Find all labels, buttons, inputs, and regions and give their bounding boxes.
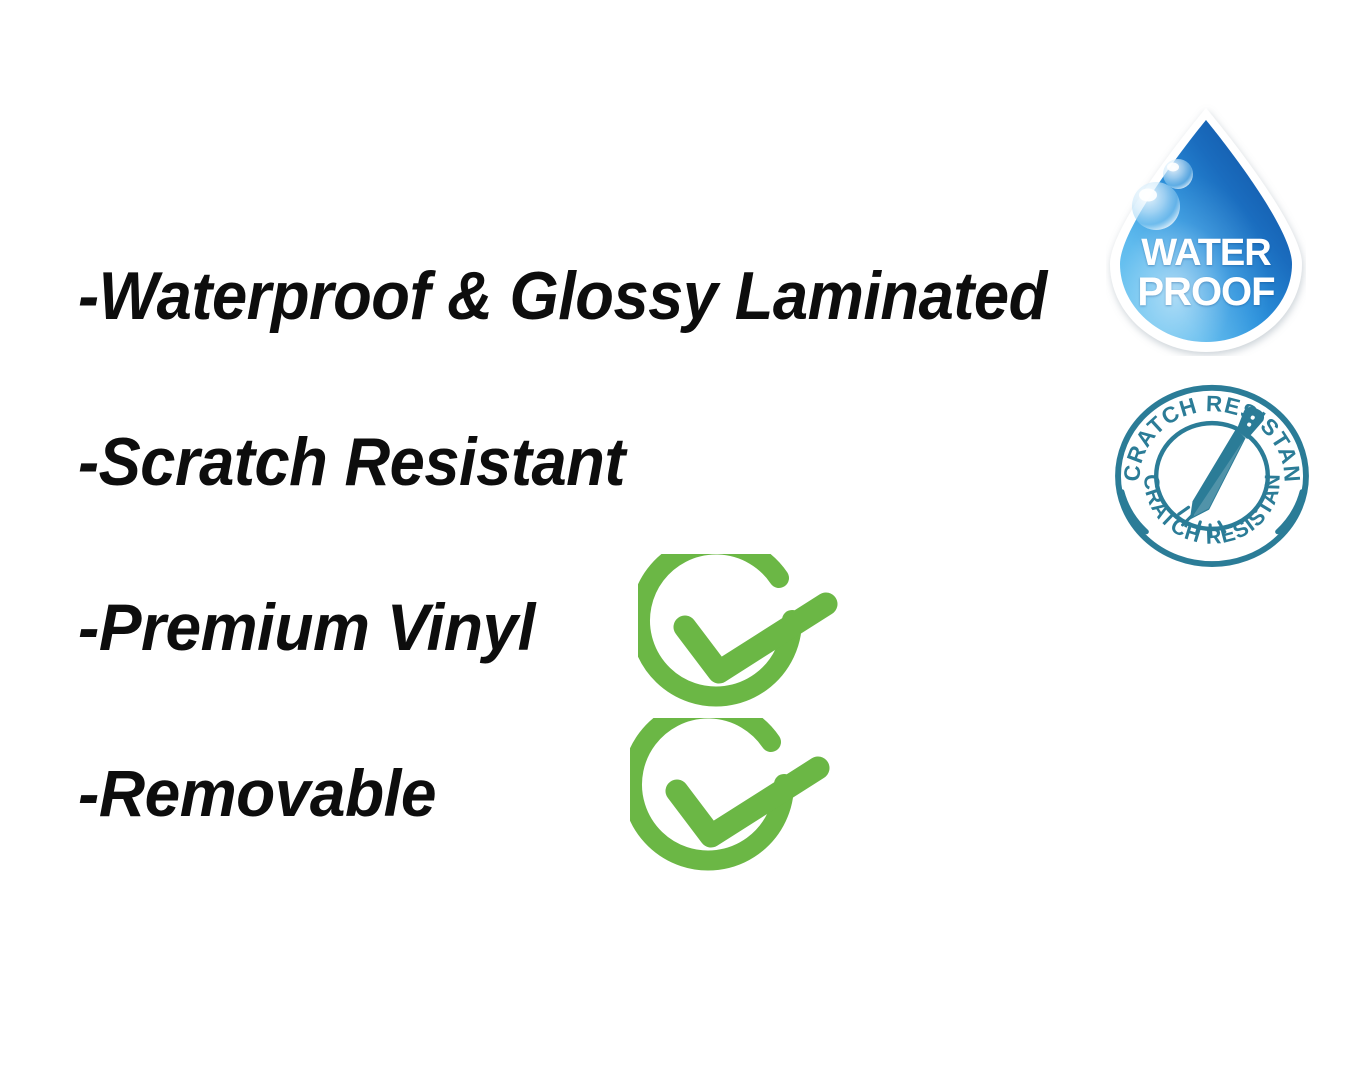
waterproof-badge: WATER PROOF: [1106, 104, 1306, 356]
bubble-small-icon: [1163, 159, 1193, 189]
water-drop-icon: [1106, 104, 1306, 356]
feature-item-scratch-resistant: -Scratch Resistant: [78, 428, 625, 496]
check-mark-premium-vinyl: [638, 554, 838, 724]
bubble-large-icon: [1132, 182, 1180, 230]
circle-check-icon: [638, 554, 838, 724]
scratch-resistant-stamp-icon: SCRATCH RESISTANT SCRATCH RESISTANT: [1114, 382, 1310, 568]
feature-item-waterproof: -Waterproof & Glossy Laminated: [78, 262, 1047, 330]
circle-check-icon: [630, 718, 830, 888]
stamp-text-top: SCRATCH RESISTANT: [1114, 382, 1305, 484]
feature-item-removable: -Removable: [78, 760, 436, 826]
scratch-resistant-badge: SCRATCH RESISTANT SCRATCH RESISTANT: [1114, 382, 1310, 568]
check-mark-removable: [630, 718, 830, 888]
feature-item-premium-vinyl: -Premium Vinyl: [78, 594, 535, 660]
product-features-graphic: -Waterproof & Glossy Laminated -Scratch …: [0, 0, 1359, 1080]
